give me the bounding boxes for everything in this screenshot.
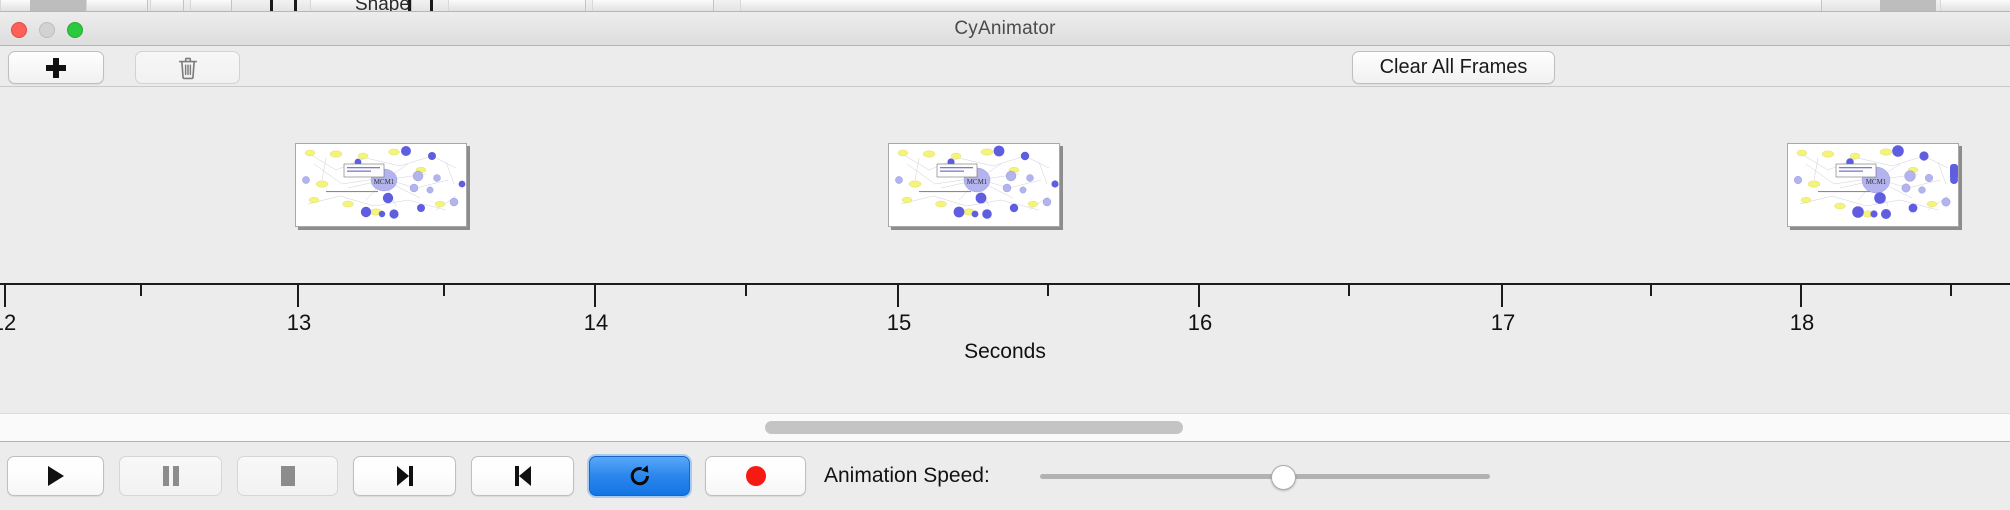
delete-frame-button[interactable] [135, 51, 240, 84]
timeline-ruler[interactable]: 12 13 14 15 16 17 18 Seconds [0, 283, 2010, 363]
record-button[interactable] [705, 456, 806, 496]
loop-button[interactable] [589, 456, 690, 496]
ruler-tick-major [594, 285, 596, 307]
svg-text:MCM1: MCM1 [374, 178, 395, 186]
record-icon [744, 464, 768, 488]
ruler-tick-minor [1950, 285, 1952, 296]
ruler-tick-major [1501, 285, 1503, 307]
skip-back-icon [394, 465, 416, 487]
svg-text:MCM1: MCM1 [1866, 178, 1887, 186]
ruler-tick-major [1198, 285, 1200, 307]
play-icon [46, 465, 66, 487]
pause-icon [161, 465, 181, 487]
cyanimator-window: Shape CyAnimator Clear All Frames [0, 0, 2010, 510]
timeline-scrollbar[interactable] [0, 413, 2010, 441]
ruler-tick-major [897, 285, 899, 307]
scrollbar-thumb[interactable] [765, 421, 1183, 434]
last-frame-button[interactable] [471, 456, 574, 496]
background-window-label: Shape [355, 0, 410, 11]
slider-track [1040, 474, 1490, 479]
play-button[interactable] [7, 456, 104, 496]
ruler-tick-major [1800, 285, 1802, 307]
ruler-tick-minor [1047, 285, 1049, 296]
stop-button[interactable] [237, 456, 338, 496]
timeline-axis-label: Seconds [0, 340, 2010, 364]
ruler-tick-minor [1650, 285, 1652, 296]
plus-icon [46, 58, 66, 78]
add-frame-button[interactable] [8, 51, 104, 84]
title-bar: CyAnimator [0, 12, 2010, 46]
animation-speed-slider[interactable] [1040, 456, 1490, 496]
frame-thumbnail[interactable]: MCM1 [295, 143, 467, 227]
loop-icon [627, 463, 653, 489]
ruler-label: 12 [0, 310, 16, 336]
skip-forward-icon [512, 465, 534, 487]
page-title: CyAnimator [0, 12, 2010, 46]
ruler-tick-major [297, 285, 299, 307]
ruler-baseline [0, 283, 2010, 285]
pause-button[interactable] [119, 456, 222, 496]
ruler-tick-minor [1348, 285, 1350, 296]
slider-thumb[interactable] [1271, 465, 1296, 490]
playback-control-bar: Animation Speed: [0, 441, 2010, 510]
toolbar: Clear All Frames [0, 46, 2010, 87]
ruler-label: 13 [287, 310, 311, 336]
ruler-tick-minor [745, 285, 747, 296]
ruler-label: 14 [584, 310, 608, 336]
background-window-strip: Shape [0, 0, 2010, 11]
stop-icon [278, 465, 298, 487]
ruler-tick-minor [140, 285, 142, 296]
ruler-tick-major [4, 285, 6, 307]
frame-thumbnail[interactable]: MCM1 [888, 143, 1060, 227]
ruler-tick-minor [443, 285, 445, 296]
svg-text:MCM1: MCM1 [967, 178, 988, 186]
first-frame-button[interactable] [353, 456, 456, 496]
frames-track[interactable]: MCM1 [0, 87, 2010, 283]
animation-speed-label: Animation Speed: [824, 456, 990, 496]
ruler-label: 16 [1188, 310, 1212, 336]
ruler-label: 15 [887, 310, 911, 336]
trash-icon [177, 56, 199, 80]
ruler-label: 17 [1491, 310, 1515, 336]
clear-all-frames-button[interactable]: Clear All Frames [1352, 51, 1555, 84]
frame-thumbnail[interactable]: MCM1 [1787, 143, 1959, 227]
ruler-label: 18 [1790, 310, 1814, 336]
